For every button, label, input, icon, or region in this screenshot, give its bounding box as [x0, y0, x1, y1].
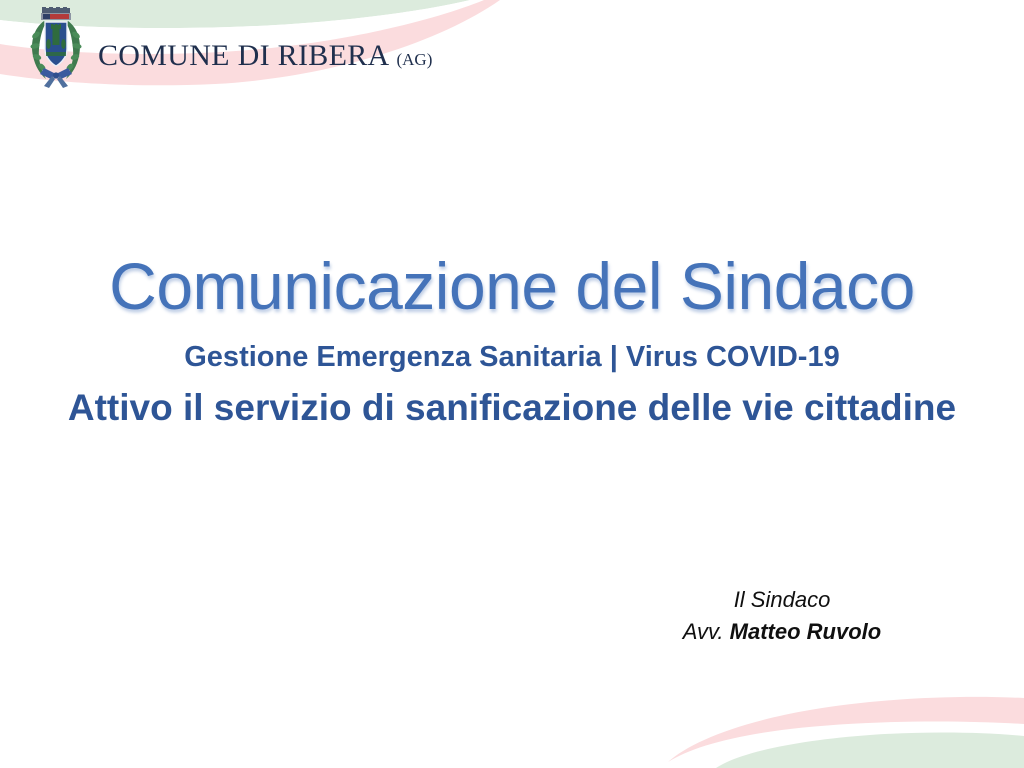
signature-name: Matteo Ruvolo	[730, 619, 882, 644]
shield-tower	[51, 24, 61, 45]
bottom-pink-band	[668, 697, 1024, 762]
signature-name-line: Avv. Matteo Ruvolo	[622, 616, 942, 648]
mural-crown-icon	[41, 7, 71, 20]
slide-content: Comunicazione del Sindaco Gestione Emerg…	[0, 252, 1024, 429]
shield-base	[46, 52, 66, 56]
comune-ribera-coat-of-arms-icon	[24, 4, 88, 96]
shield-charge-right	[61, 39, 66, 49]
page-title: Comunicazione del Sindaco	[0, 252, 1024, 321]
comune-logo-block: COMUNE DI RIBERA (AG)	[24, 4, 432, 96]
organization-title: COMUNE DI RIBERA	[98, 39, 389, 73]
signature-honorific: Avv.	[683, 619, 724, 644]
signature-role: Il Sindaco	[622, 584, 942, 616]
shield-charge-left	[46, 39, 51, 49]
subtitle-emergency: Gestione Emergenza Sanitaria | Virus COV…	[0, 341, 1024, 374]
signature-block: Il Sindaco Avv. Matteo Ruvolo	[622, 584, 942, 648]
ribbon-bow-icon	[40, 68, 72, 88]
presentation-slide: COMUNE DI RIBERA (AG) Comunicazione del …	[0, 0, 1024, 768]
bottom-green-band	[716, 732, 1024, 768]
organization-province: (AG)	[396, 50, 432, 70]
headline-announcement: Attivo il servizio di sanificazione dell…	[0, 387, 1024, 430]
organization-name: COMUNE DI RIBERA (AG)	[98, 39, 432, 73]
